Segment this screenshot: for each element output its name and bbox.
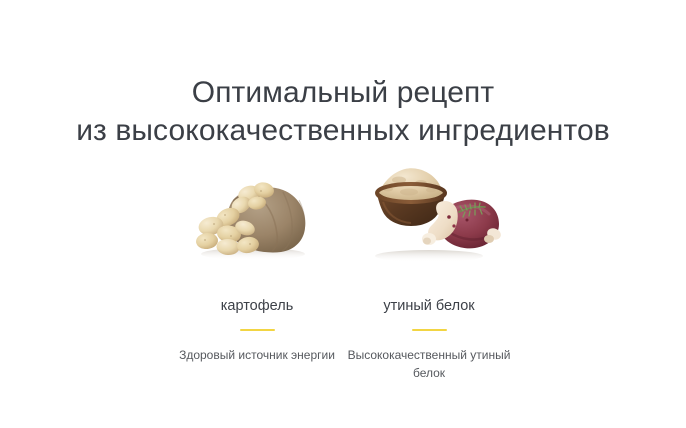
ingredient-name: картофель (221, 297, 294, 315)
duck-protein-illustration (343, 160, 515, 270)
accent-divider (412, 329, 447, 331)
potato-illustration (171, 160, 343, 270)
potatoes-in-burlap-sack-image (171, 160, 343, 270)
ingredient-description: Высококачественный утиный белок (345, 346, 513, 382)
duck-leg-and-bowl-of-protein-powder-image (343, 160, 515, 270)
ingredient-card-duck-protein: утиный белок Высококачественный утиный б… (343, 160, 515, 382)
ingredient-name: утиный белок (383, 297, 474, 315)
ingredient-list: картофель Здоровый источник энергии (0, 160, 686, 382)
ingredient-description: Здоровый источник энергии (173, 346, 341, 364)
ingredient-card-potato: картофель Здоровый источник энергии (171, 160, 343, 364)
page-title-line-1: Оптимальный рецепт (0, 74, 686, 112)
ingredients-section: Оптимальный рецепт из высококачественных… (0, 0, 686, 428)
page-title-line-2: из высококачественных ингредиентов (0, 112, 686, 150)
accent-divider (240, 329, 275, 331)
page-title: Оптимальный рецепт из высококачественных… (0, 74, 686, 150)
